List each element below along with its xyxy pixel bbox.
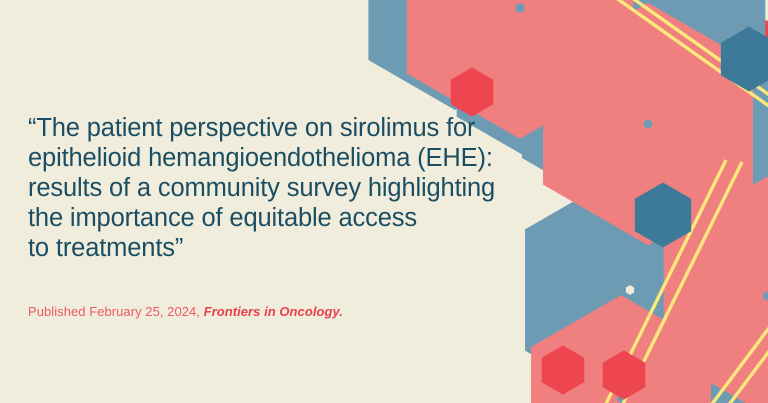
published-date-text: Published February 25, 2024, [28, 304, 204, 319]
yellow-stripe-group [588, 0, 768, 403]
article-promo-banner: “The patient perspective on sirolimus fo… [0, 0, 768, 403]
journal-name: Frontiers in Oncology. [204, 304, 343, 319]
small-blue-hexagon-group [652, 46, 761, 228]
publication-credit: Published February 25, 2024, Frontiers i… [28, 303, 343, 320]
headline-container: “The patient perspective on sirolimus fo… [28, 113, 548, 263]
red-hexagon-group [515, 0, 768, 403]
page-title: “The patient perspective on sirolimus fo… [28, 113, 548, 263]
